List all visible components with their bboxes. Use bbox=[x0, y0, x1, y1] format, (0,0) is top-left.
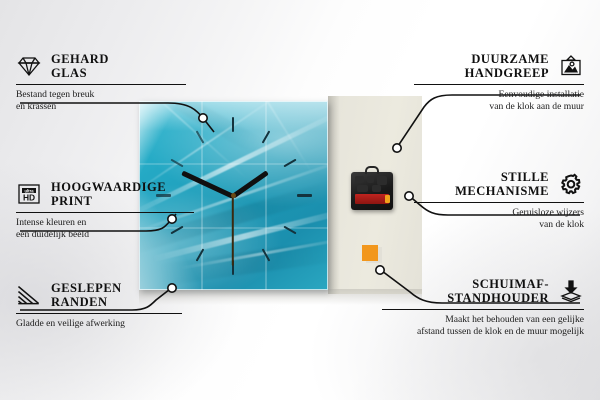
feature-stille-mechanisme: STILLE MECHANISME Geruisloze wijzers van… bbox=[414, 170, 584, 231]
connector-dot-mechanism bbox=[405, 192, 413, 200]
feature-desc-line1: Eenvoudige installatie bbox=[414, 89, 584, 101]
feature-divider bbox=[414, 202, 584, 203]
feature-title-line1: STILLE bbox=[455, 170, 549, 184]
connector-dot-handle bbox=[393, 144, 401, 152]
feature-divider bbox=[382, 309, 584, 310]
feature-desc-line1: Gladde en veilige afwerking bbox=[16, 318, 182, 330]
feature-title-line2: PRINT bbox=[51, 194, 166, 208]
infographic-canvas: GEHARD GLAS Bestand tegen breuk en krass… bbox=[0, 0, 600, 400]
feature-title-line2: MECHANISME bbox=[455, 184, 549, 198]
feature-hoogwaardige-print: ultra HD HOOGWAARDIGE PRINT Intense kleu… bbox=[16, 180, 194, 241]
hatched-edge-icon bbox=[16, 283, 42, 307]
feature-desc-line2: van de klok bbox=[414, 219, 584, 231]
connector-dot-glass bbox=[199, 114, 207, 122]
feature-title-line2: RANDEN bbox=[51, 295, 122, 309]
feature-title-line1: SCHUIMAF- bbox=[447, 277, 549, 291]
spacer-stack-icon bbox=[558, 279, 584, 303]
feature-divider bbox=[16, 313, 182, 314]
feature-desc-line1: Geruisloze wijzers bbox=[414, 207, 584, 219]
feature-desc-line2: afstand tussen de klok en de muur mogeli… bbox=[382, 326, 584, 338]
feature-duurzame-handgreep: DUURZAME HANDGREEP Eenvoudige installati… bbox=[414, 52, 584, 113]
feature-divider bbox=[16, 84, 186, 85]
feature-divider bbox=[414, 84, 584, 85]
feature-schuimafstandhouder: SCHUIMAF- STANDHOUDER Maakt het behouden… bbox=[382, 277, 584, 338]
gear-icon bbox=[558, 172, 584, 196]
feature-title-line1: GESLEPEN bbox=[51, 281, 122, 295]
feature-desc-line2: een duidelijk beeld bbox=[16, 229, 194, 241]
diamond-icon bbox=[16, 54, 42, 78]
feature-title-line2: GLAS bbox=[51, 66, 109, 80]
hanging-picture-icon bbox=[558, 54, 584, 78]
feature-geslepen-randen: GESLEPEN RANDEN Gladde en veilige afwerk… bbox=[16, 281, 182, 330]
ultra-hd-icon: ultra HD bbox=[16, 182, 42, 206]
feature-desc-line2: en krassen bbox=[16, 101, 186, 113]
feature-gehard-glas: GEHARD GLAS Bestand tegen breuk en krass… bbox=[16, 52, 186, 113]
feature-title-line2: HANDGREEP bbox=[465, 66, 549, 80]
feature-title-line1: GEHARD bbox=[51, 52, 109, 66]
feature-title-line1: HOOGWAARDIGE bbox=[51, 180, 166, 194]
feature-desc-line1: Bestand tegen breuk bbox=[16, 89, 186, 101]
feature-desc-line1: Intense kleuren en bbox=[16, 217, 194, 229]
feature-title-line2: STANDHOUDER bbox=[447, 291, 549, 305]
feature-title-line1: DUURZAME bbox=[465, 52, 549, 66]
feature-desc-line2: van de klok aan de muur bbox=[414, 101, 584, 113]
feature-divider bbox=[16, 212, 194, 213]
feature-desc-line1: Maakt het behouden van een gelijke bbox=[382, 314, 584, 326]
connector-dot-spacer bbox=[376, 266, 384, 274]
svg-text:HD: HD bbox=[23, 193, 35, 203]
